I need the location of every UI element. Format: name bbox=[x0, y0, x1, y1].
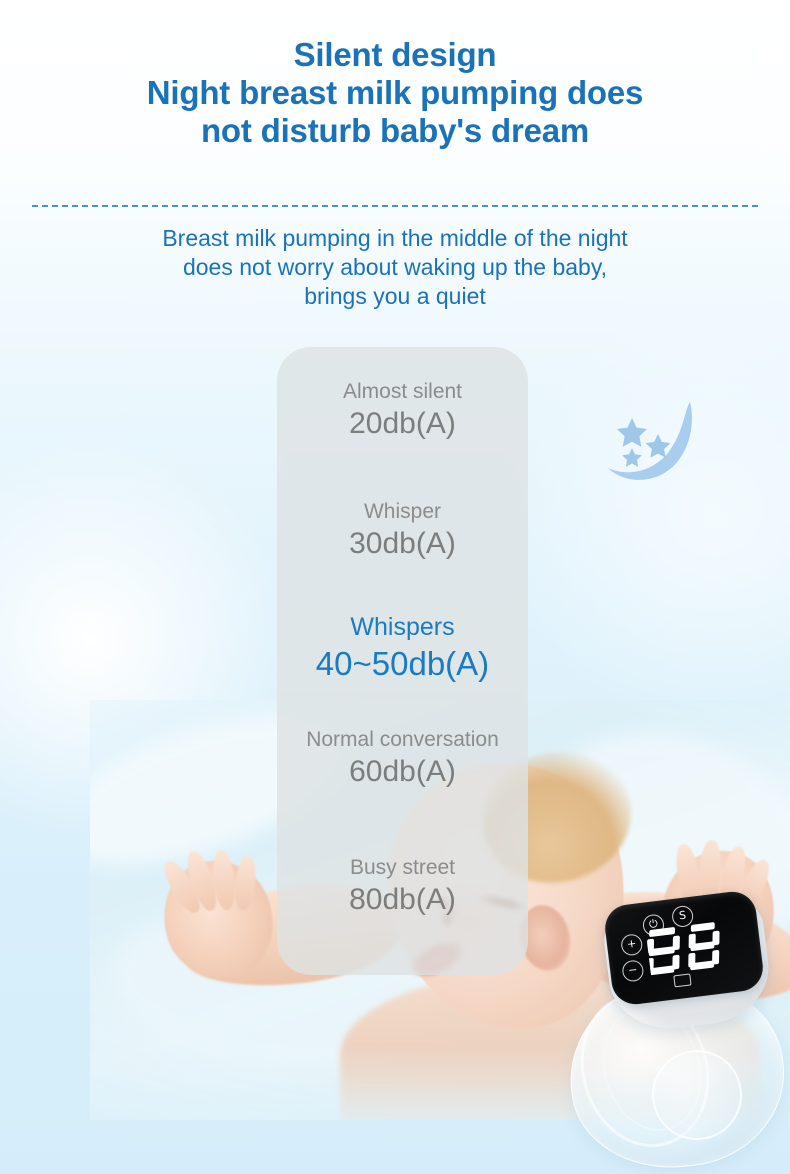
noise-level-value: 30db(A) bbox=[277, 525, 528, 563]
increase-button-icon[interactable]: + bbox=[620, 933, 643, 956]
wearable-breast-pump: ⏻ S + − bbox=[560, 880, 790, 1170]
page-title: Silent design Night breast milk pumping … bbox=[0, 36, 790, 150]
headline-line-2: Night breast milk pumping does bbox=[0, 74, 790, 112]
noise-level-item: Whisper 30db(A) bbox=[277, 499, 528, 563]
decrease-button-icon[interactable]: − bbox=[621, 959, 644, 982]
headline-line-1: Silent design bbox=[0, 36, 790, 74]
noise-level-value: 60db(A) bbox=[277, 753, 528, 791]
headline-line-3: not disturb baby's dream bbox=[0, 112, 790, 150]
subtitle-line-2: does not worry about waking up the baby, bbox=[55, 253, 735, 282]
page-subtitle: Breast milk pumping in the middle of the… bbox=[55, 224, 735, 311]
noise-level-label: Almost silent bbox=[277, 379, 528, 405]
noise-level-list: Almost silent 20db(A) Whisper 30db(A) Wh… bbox=[277, 347, 528, 975]
pump-control-panel[interactable]: ⏻ S + − bbox=[602, 889, 765, 1007]
subtitle-line-1: Breast milk pumping in the middle of the… bbox=[55, 224, 735, 253]
background-glow-right bbox=[500, 300, 790, 730]
subtitle-line-3: brings you a quiet bbox=[55, 282, 735, 311]
noise-level-label: Whisper bbox=[277, 499, 528, 525]
noise-level-item: Busy street 80db(A) bbox=[277, 855, 528, 919]
noise-level-value: 40~50db(A) bbox=[277, 643, 528, 685]
noise-level-item-highlighted: Whispers 40~50db(A) bbox=[277, 612, 528, 685]
noise-level-item: Almost silent 20db(A) bbox=[277, 379, 528, 443]
promo-page: Silent design Night breast milk pumping … bbox=[0, 0, 790, 1174]
noise-level-item: Normal conversation 60db(A) bbox=[277, 727, 528, 791]
noise-level-value: 80db(A) bbox=[277, 881, 528, 919]
noise-level-panel: Almost silent 20db(A) Whisper 30db(A) Wh… bbox=[277, 347, 528, 975]
noise-level-label: Whispers bbox=[277, 612, 528, 643]
pump-seven-segment-display bbox=[645, 919, 730, 976]
crescent-moon-with-stars-icon bbox=[592, 396, 696, 488]
battery-indicator-icon bbox=[673, 973, 691, 987]
divider bbox=[32, 205, 758, 207]
noise-level-label: Normal conversation bbox=[277, 727, 528, 753]
noise-level-label: Busy street bbox=[277, 855, 528, 881]
noise-level-value: 20db(A) bbox=[277, 405, 528, 443]
